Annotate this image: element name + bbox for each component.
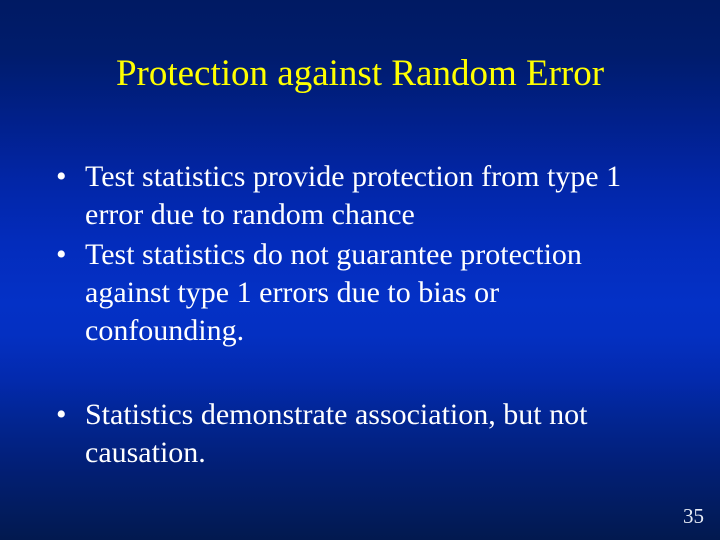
bullet-dot-icon: • — [56, 236, 85, 274]
slide-body-area: • Test statistics provide protection fro… — [56, 158, 656, 474]
list-item: • Statistics demonstrate association, bu… — [56, 396, 656, 472]
list-item: • Test statistics provide protection fro… — [56, 158, 656, 234]
slide-content: Protection against Random Error • Test s… — [0, 0, 720, 540]
list-item: • Test statistics do not guarantee prote… — [56, 236, 656, 350]
slide-title-area: Protection against Random Error — [40, 52, 680, 96]
list-item-text: Statistics demonstrate association, but … — [85, 396, 645, 472]
presentation-slide: Protection against Random Error • Test s… — [0, 0, 720, 540]
page-title: Protection against Random Error — [40, 52, 680, 96]
bullet-dot-icon: • — [56, 158, 85, 196]
bullet-dot-icon: • — [56, 396, 85, 434]
list-item-text: Test statistics do not guarantee protect… — [85, 236, 645, 350]
list-item-text: Test statistics provide protection from … — [85, 158, 645, 234]
slide-page-number: 35 — [683, 505, 704, 527]
